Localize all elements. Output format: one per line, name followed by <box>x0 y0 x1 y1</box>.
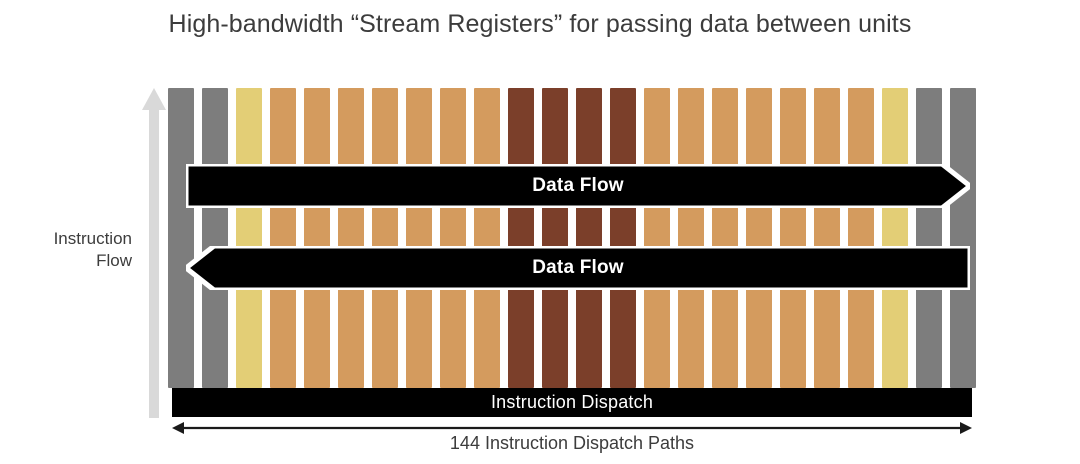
instruction-flow-up-arrow-icon <box>142 88 166 418</box>
instruction-dispatch-label: Instruction Dispatch <box>491 392 653 413</box>
instruction-flow-label-line2: Flow <box>8 250 132 272</box>
stream-register-bar-orange <box>644 88 670 388</box>
dispatch-paths-caption: 144 Instruction Dispatch Paths <box>172 433 972 454</box>
data-flow-arrow-right: Data Flow <box>186 164 970 208</box>
stream-register-bar-gray <box>168 88 194 388</box>
instruction-flow-label: Instruction Flow <box>8 228 132 272</box>
stream-register-bar-orange <box>440 88 466 388</box>
stream-register-bar-gray <box>950 88 976 388</box>
stream-register-bar-gray <box>202 88 228 388</box>
stream-register-bar-orange <box>746 88 772 388</box>
stream-register-bar-orange <box>814 88 840 388</box>
stream-register-bar-orange <box>406 88 432 388</box>
stream-register-bar-orange <box>678 88 704 388</box>
data-flow-arrow-left: Data Flow <box>186 246 970 290</box>
stream-register-bar-orange <box>712 88 738 388</box>
stream-register-bar-orange <box>848 88 874 388</box>
stream-register-bar-orange <box>270 88 296 388</box>
stream-register-bars <box>168 88 976 388</box>
stream-register-bar-orange <box>338 88 364 388</box>
stream-register-bar-yellow <box>882 88 908 388</box>
stream-register-bar-brown <box>542 88 568 388</box>
stream-register-bar-orange <box>304 88 330 388</box>
page-title: High-bandwidth “Stream Registers” for pa… <box>0 10 1080 39</box>
stream-register-bar-orange <box>372 88 398 388</box>
instruction-dispatch-bar: Instruction Dispatch <box>172 388 972 417</box>
stream-register-bar-orange <box>780 88 806 388</box>
stream-register-bar-gray <box>916 88 942 388</box>
stream-register-bar-yellow <box>236 88 262 388</box>
stream-register-bar-brown <box>610 88 636 388</box>
stream-register-bar-brown <box>576 88 602 388</box>
instruction-flow-label-line1: Instruction <box>8 228 132 250</box>
stream-register-bar-orange <box>474 88 500 388</box>
stream-register-bar-brown <box>508 88 534 388</box>
